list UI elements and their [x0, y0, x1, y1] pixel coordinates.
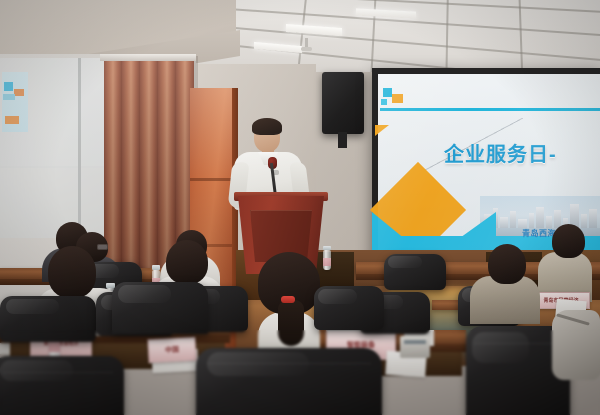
attendee-head	[488, 244, 526, 284]
sprinkler-head-icon	[301, 47, 312, 51]
wall-poster	[2, 72, 28, 132]
chair	[314, 286, 384, 330]
partition-mullion	[78, 58, 81, 240]
device-screen	[404, 340, 426, 344]
chair	[384, 254, 446, 290]
bottle-cap	[323, 246, 331, 250]
bottle-cap	[152, 265, 160, 270]
chair	[0, 356, 124, 415]
glasses-icon	[97, 244, 108, 250]
chair	[196, 348, 382, 415]
attendee-head	[552, 224, 585, 258]
conference-room-photo: 企业服务日- 青岛西海岸 青岛市民营经济	[0, 0, 600, 415]
wall-speaker-icon	[322, 72, 364, 134]
name-card: 中国	[147, 337, 196, 363]
hair-tie	[281, 296, 295, 303]
attendee-head	[48, 246, 96, 298]
ceiling-light	[254, 42, 302, 53]
chair	[112, 282, 208, 334]
curtain-rod	[100, 54, 196, 61]
attendee-head	[166, 240, 208, 284]
glasses-icon	[256, 133, 278, 139]
water-bottle	[323, 250, 331, 270]
name-card-text: 中国	[165, 345, 180, 356]
speaker-bracket	[338, 132, 347, 148]
chair	[0, 296, 96, 342]
ponytail	[278, 300, 304, 346]
wood-column-seam	[190, 178, 236, 181]
